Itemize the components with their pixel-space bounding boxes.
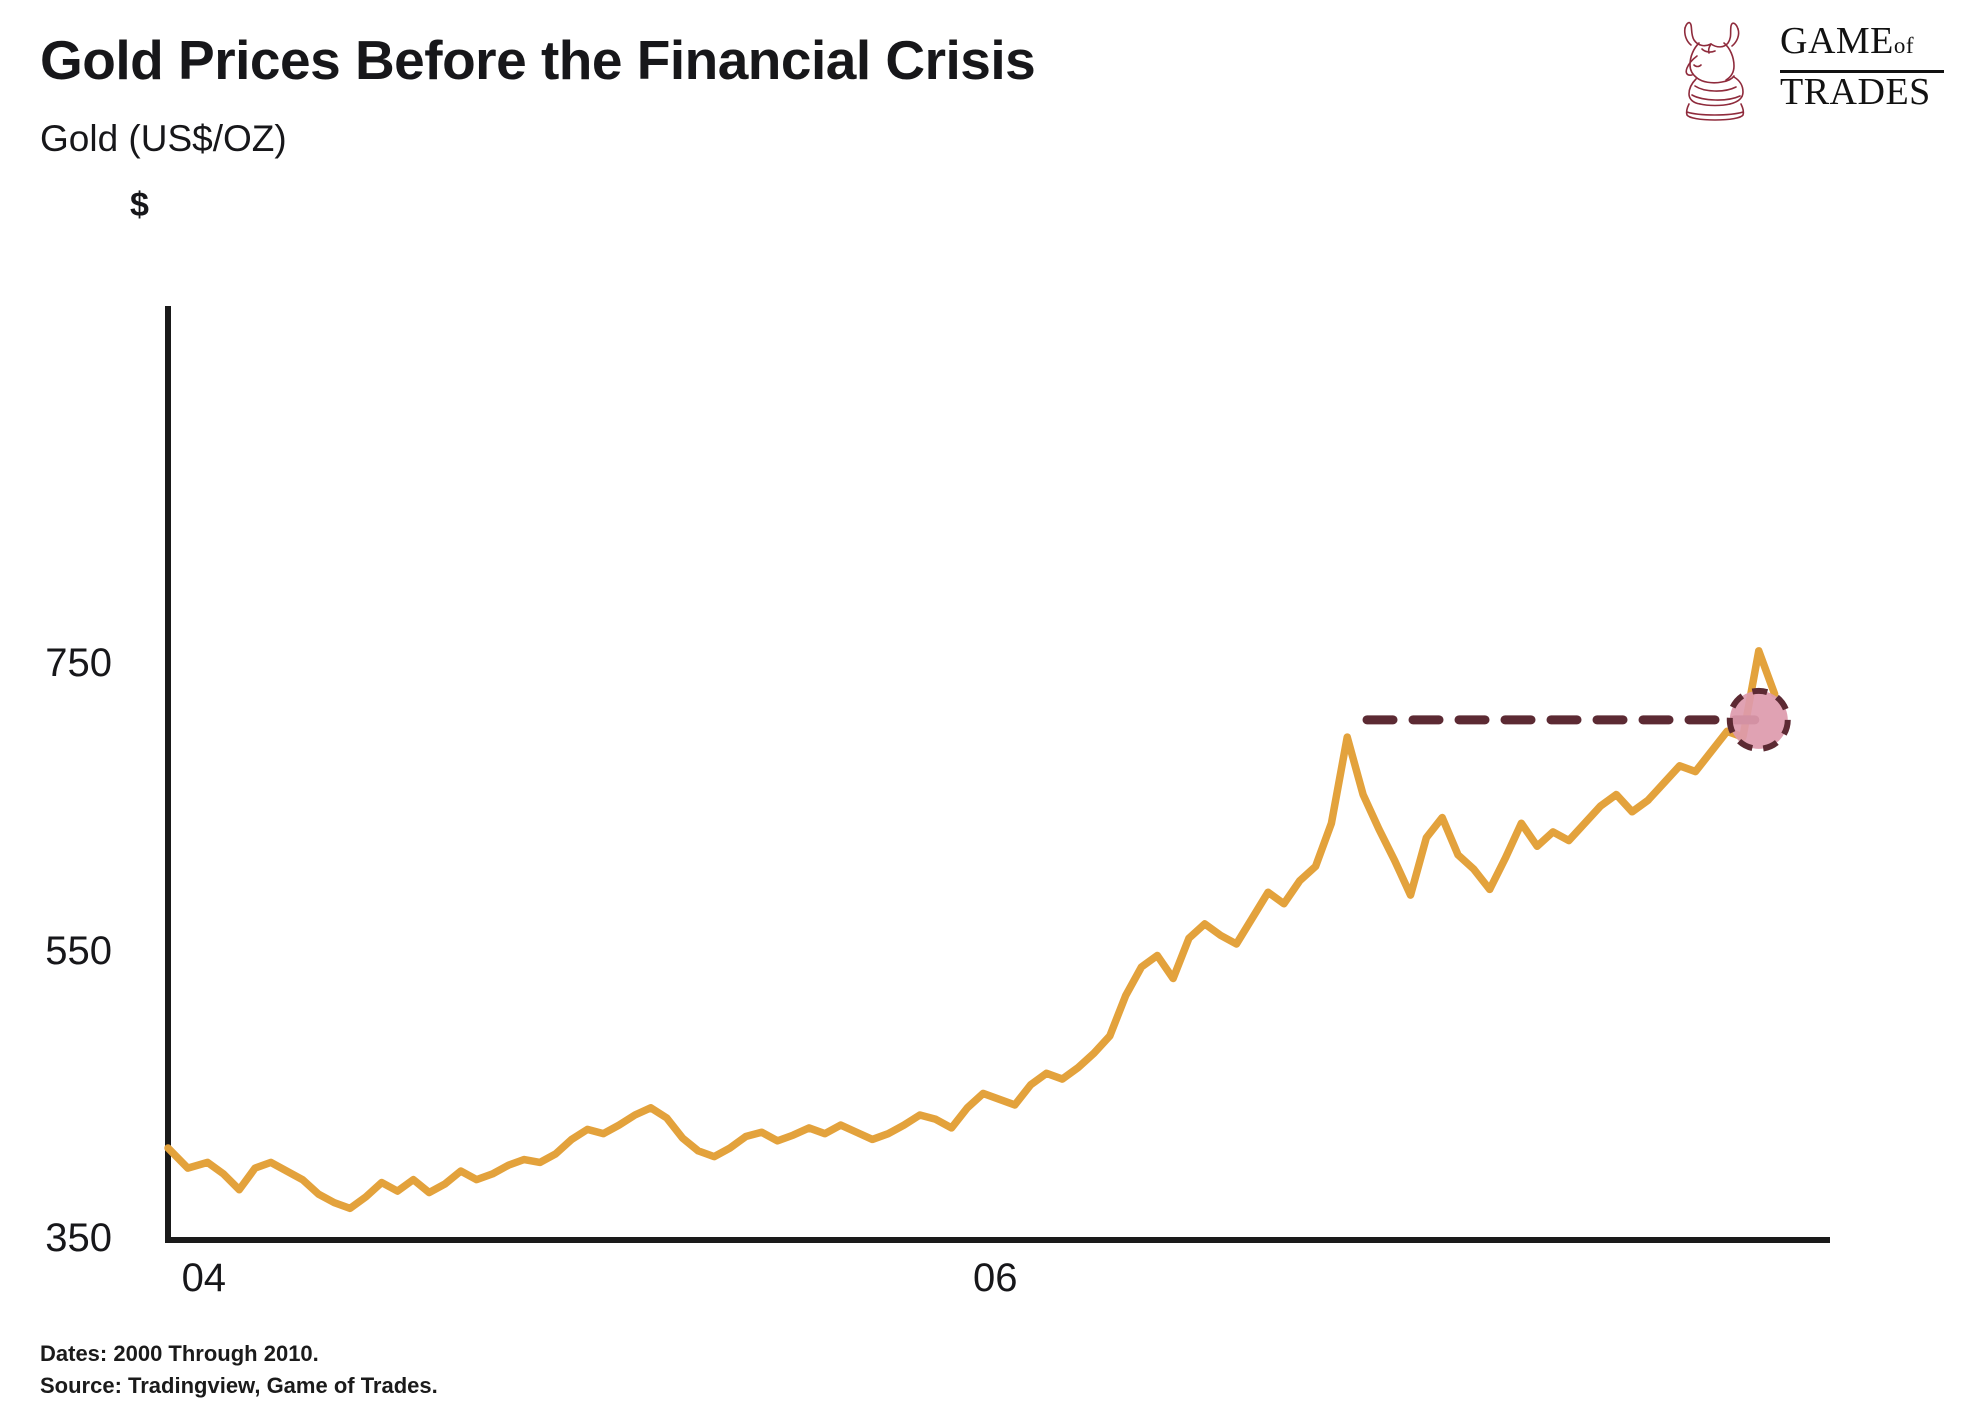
- footer-source: Source: Tradingview, Game of Trades.: [40, 1370, 438, 1402]
- gold-price-line: [168, 651, 1775, 1209]
- line-chart-plot: [0, 0, 1962, 1422]
- chart-page: Gold Prices Before the Financial Crisis …: [0, 0, 1962, 1422]
- breakout-marker-circle: [1730, 691, 1788, 749]
- footer-dates: Dates: 2000 Through 2010.: [40, 1338, 438, 1370]
- footer-notes: Dates: 2000 Through 2010. Source: Tradin…: [40, 1338, 438, 1402]
